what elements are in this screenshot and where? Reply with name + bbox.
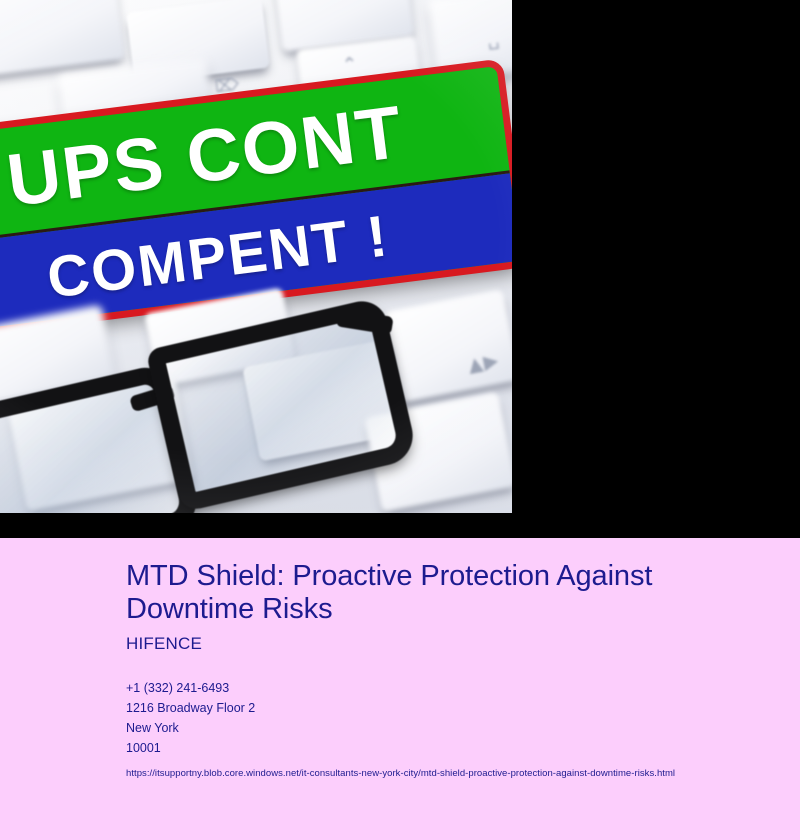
brand-name: HIFENCE <box>126 634 770 654</box>
contact-zip: 10001 <box>126 738 770 758</box>
contact-street: 1216 Broadway Floor 2 <box>126 698 770 718</box>
contact-phone: +1 (332) 241-6493 <box>126 678 770 698</box>
keycap-glyph-icon: ⌃ <box>341 53 359 77</box>
info-card: MTD Shield: Proactive Protection Against… <box>0 538 800 840</box>
contact-block: +1 (332) 241-6493 1216 Broadway Floor 2 … <box>126 678 770 758</box>
keycap-glyph-icon: ␣ <box>486 27 501 50</box>
hero-band: ⌦ ↵ ⌃ ␣ UPS CONT COMPENT ! ▲▶ <box>0 0 800 538</box>
info-card-content: MTD Shield: Proactive Protection Against… <box>126 560 770 779</box>
page-root: ⌦ ↵ ⌃ ␣ UPS CONT COMPENT ! ▲▶ <box>0 0 800 840</box>
contact-city: New York <box>126 718 770 738</box>
hero-photo: ⌦ ↵ ⌃ ␣ UPS CONT COMPENT ! ▲▶ <box>0 0 512 513</box>
page-title: MTD Shield: Proactive Protection Against… <box>126 560 746 626</box>
page-url[interactable]: https://itsupportny.blob.core.windows.ne… <box>126 768 770 779</box>
